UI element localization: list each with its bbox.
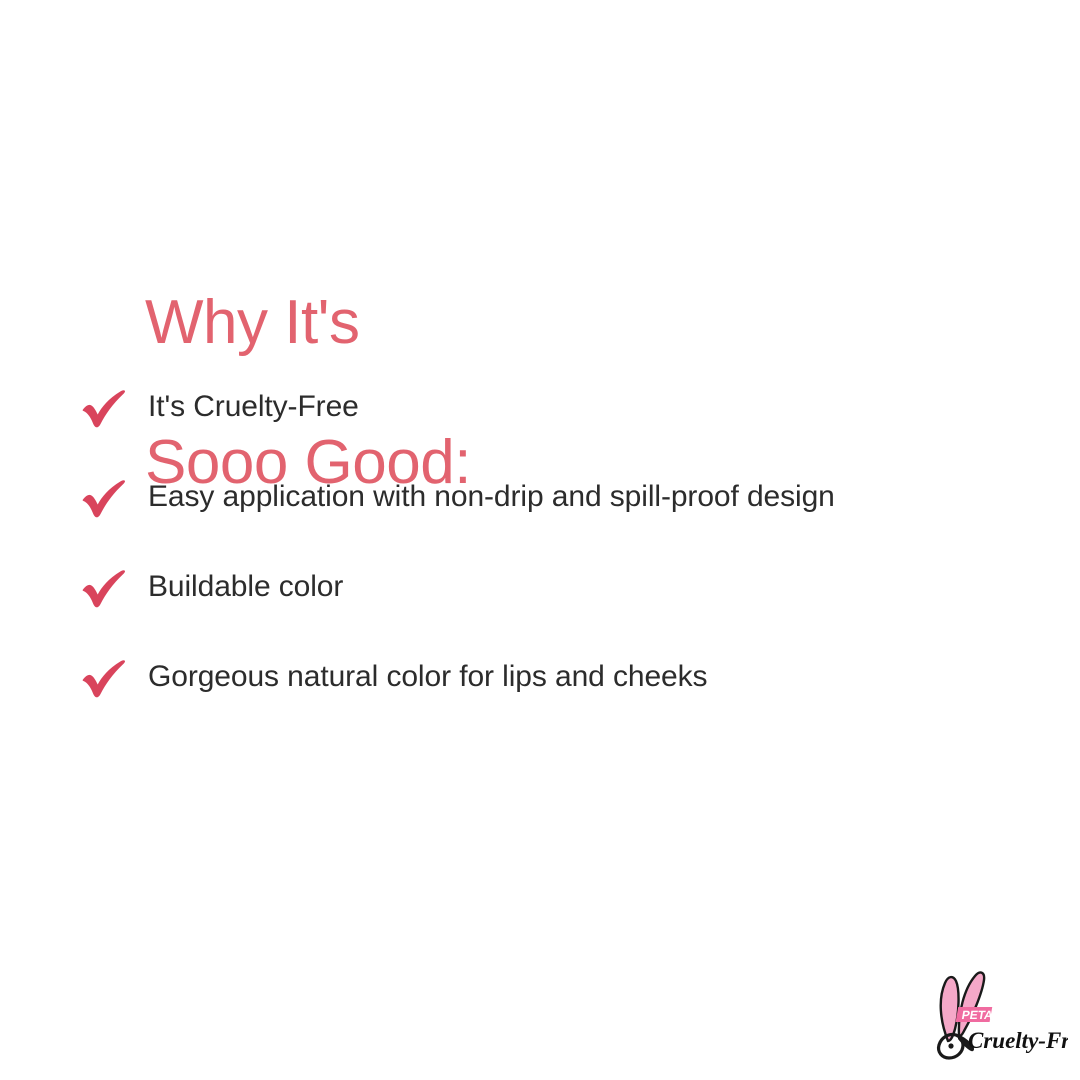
check-icon [80,476,148,526]
check-icon [80,656,148,706]
poster-canvas: Why It's Sooo Good: It's Cruelty-Free Ea… [0,0,1080,1080]
bunny-right-ear [959,973,984,1036]
peta-badge-label: PETA [961,1008,995,1022]
bunny-left-ear [941,977,959,1041]
peta-cruelty-free-logo: PETA Cruelty-Free [918,963,1068,1063]
list-item: Gorgeous natural color for lips and chee… [80,656,1040,746]
list-item-label: Buildable color [148,566,343,607]
list-item: Buildable color [80,566,1040,656]
peta-badge: PETA [956,1007,995,1022]
check-icon [80,386,148,436]
bunny-eye [948,1043,953,1048]
list-item-label: Easy application with non-drip and spill… [148,476,835,517]
benefits-list: It's Cruelty-Free Easy application with … [80,386,1040,746]
list-item: Easy application with non-drip and spill… [80,476,1040,566]
cruelty-free-wordmark: Cruelty-Free [968,1028,1068,1053]
check-icon [80,566,148,616]
list-item-label: Gorgeous natural color for lips and chee… [148,656,707,697]
list-item-label: It's Cruelty-Free [148,386,359,427]
page-title-line-1: Why It's [145,288,845,358]
list-item: It's Cruelty-Free [80,386,1040,476]
